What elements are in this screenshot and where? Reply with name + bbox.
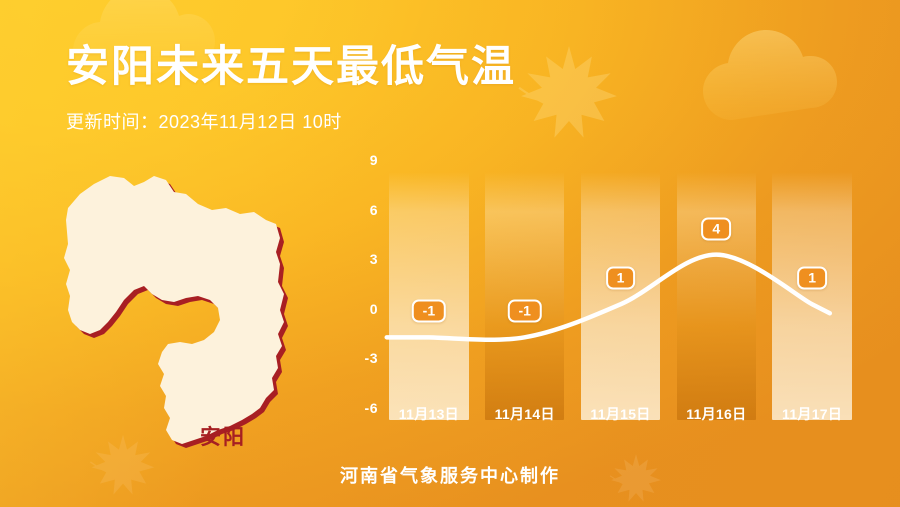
y-axis-tick-label: -6	[340, 400, 378, 416]
y-axis-tick-label: 0	[340, 301, 378, 317]
chart-y-axis: 9630-3-6	[340, 160, 378, 408]
chart-x-axis: 11月13日11月14日11月15日11月16日11月17日	[381, 404, 860, 430]
x-axis-tick-label: 11月15日	[590, 404, 650, 424]
anyang-map: 安阳	[52, 168, 322, 458]
x-axis-tick-label: 11月14日	[495, 404, 555, 424]
page-title: 安阳未来五天最低气温	[66, 44, 516, 91]
update-time-text: 更新时间：2023年11月12日 10时	[66, 108, 516, 134]
y-axis-tick-label: 3	[340, 251, 378, 267]
y-axis-tick-label: 6	[340, 202, 378, 218]
temperature-chart: 9630-3-6 -1-1141 11月13日11月14日11月15日11月16…	[340, 160, 860, 430]
data-point-badge: 1	[797, 267, 827, 290]
data-point-badge: -1	[507, 300, 541, 323]
data-point-badge: -1	[412, 300, 446, 323]
footer-credit: 河南省气象服务中心制作	[0, 462, 900, 488]
chart-data-labels: -1-1141	[381, 172, 860, 420]
data-point-badge: 1	[606, 267, 636, 290]
map-region-label: 安阳	[200, 421, 246, 451]
y-axis-tick-label: -3	[340, 350, 378, 366]
x-axis-tick-label: 11月16日	[686, 404, 746, 424]
header: 安阳未来五天最低气温 更新时间：2023年11月12日 10时	[66, 44, 516, 134]
x-axis-tick-label: 11月13日	[399, 404, 459, 424]
infographic-canvas: 安阳未来五天最低气温 更新时间：2023年11月12日 10时 安阳 9630-…	[0, 0, 900, 507]
map-fill	[64, 176, 284, 444]
y-axis-tick-label: 9	[340, 152, 378, 168]
data-point-badge: 4	[701, 217, 731, 240]
x-axis-tick-label: 11月17日	[782, 404, 842, 424]
